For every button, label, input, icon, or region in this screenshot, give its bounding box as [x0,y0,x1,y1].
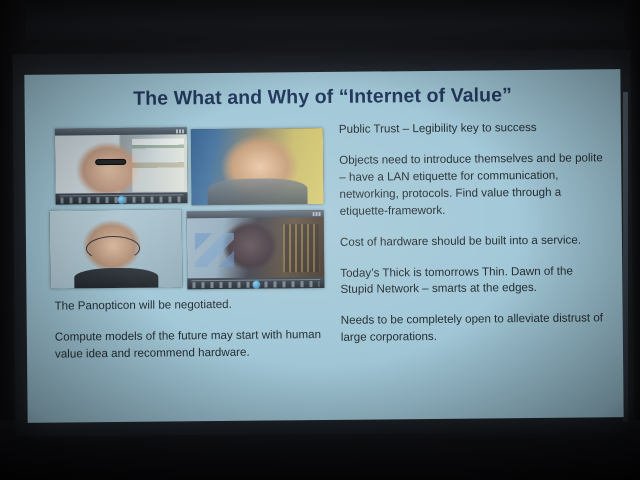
slide-right-text-column: Public Trust – Legibility key to success… [339,119,609,347]
participant-2-torso [207,178,308,205]
participant-2-video [191,128,324,205]
background-shelf [132,138,185,192]
right-paragraph-2: Objects need to introduce themselves and… [339,150,608,220]
background-shelf-rack [283,224,319,273]
slide-content: The What and Why of “Internet of Value” [24,69,623,423]
background-sticky-notes [195,233,234,268]
video-controls-bar-1 [55,192,187,204]
right-paragraph-5: Needs to be completely open to alleviate… [341,311,609,347]
left-paragraph-2: Compute models of the future may start w… [55,327,327,363]
video-window-titlebar-4 [187,210,324,218]
participant-3-torso [74,267,159,288]
video-tile-3 [50,209,183,288]
glasses-icon [95,159,127,165]
play-button-icon[interactable] [118,195,126,203]
participant-3-video [50,209,183,288]
video-tile-1 [55,127,188,204]
headset-icon [86,235,141,261]
video-controls-bar-4 [187,277,324,289]
right-paragraph-3: Cost of hardware should be built into a … [340,232,608,251]
slide-left-text-column: The Panopticon will be negotiated. Compu… [54,296,327,363]
left-paragraph-1: The Panopticon will be negotiated. [54,296,326,316]
slide-title: The What and Why of “Internet of Value” [24,83,620,112]
wall-light-strip [623,92,628,422]
projector-photo: The What and Why of “Internet of Value” [0,0,640,480]
room-ceiling-band [0,0,640,40]
video-window-titlebar-1 [55,127,187,135]
play-button-icon[interactable] [252,280,260,288]
window-controls-icon [176,129,184,133]
video-call-grid [49,126,331,289]
presentation-slide: The What and Why of “Internet of Value” [24,69,623,423]
right-paragraph-4: Today’s Thick is tomorrows Thin. Dawn of… [340,263,608,299]
window-controls-icon [313,212,321,216]
video-tile-2 [191,128,324,205]
right-paragraph-1: Public Trust – Legibility key to success [339,119,607,138]
video-tile-4 [187,210,325,289]
